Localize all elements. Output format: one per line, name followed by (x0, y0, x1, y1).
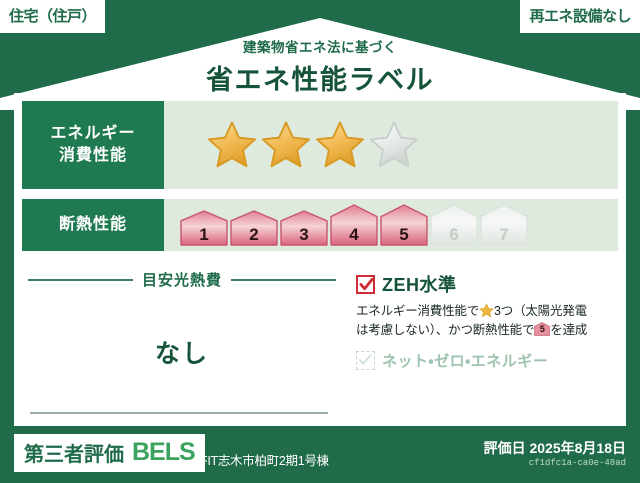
zeh-desc-part3: を達成 (550, 323, 587, 337)
bels-logo-plate: 第三者評価 BELS (14, 434, 205, 472)
zeh-desc-part1: エネルギー消費性能で (356, 304, 479, 318)
label-title-block: 建築物省エネ法に基づく 省エネ性能ラベル (0, 36, 640, 97)
utility-cost-value: なし (22, 334, 342, 370)
zeh-desc-stars: 3つ（太陽光発電 (494, 304, 587, 318)
third-party-eval-text: 第三者評価 (24, 438, 124, 467)
energy-performance-row: エネルギー 消費性能 (22, 101, 618, 189)
label-content-card: エネルギー 消費性能 断熱性能 1234567 目安光熱費 (14, 93, 626, 426)
evaluation-date-value: 2025年8月18日 (529, 440, 626, 456)
insulation-performance-value: 1234567 (164, 199, 618, 251)
insulation-performance-label: 断熱性能 (22, 199, 164, 251)
insulation-level-number: 4 (330, 226, 378, 243)
utility-cost-divider (30, 412, 328, 414)
zeh-desc-part2: は考慮しない）、かつ断熱性能で (356, 323, 534, 337)
insulation-level-number: 2 (230, 226, 278, 243)
building-type-badge: 住宅（住戸） (0, 0, 105, 33)
net-zero-energy-label: ネット・ゼロ・エネルギー (382, 350, 548, 371)
label-footer: 第三者評価 BELS FIT志木市柏町2期1号棟 評価日 2025年8月18日 … (0, 428, 640, 483)
insulation-level-6: 6 (430, 204, 478, 246)
page-title: 省エネ性能ラベル (0, 58, 640, 97)
utility-cost-heading-text: 目安光熱費 (142, 269, 222, 290)
energy-performance-label: 住宅（住戸） 再エネ設備なし 建築物省エネ法に基づく 省エネ性能ラベル エネルギ… (0, 0, 640, 483)
house-rating-scale: 1234567 (180, 204, 528, 246)
heading-rule-right (231, 279, 336, 281)
insulation-level-1: 1 (180, 210, 228, 246)
mini-house-number: 5 (534, 322, 550, 336)
evaluation-date: 評価日 2025年8月18日 (484, 438, 626, 458)
insulation-performance-row: 断熱性能 1234567 (22, 199, 618, 251)
insulation-level-number: 7 (480, 226, 528, 243)
energy-label-line1: エネルギー (50, 123, 135, 145)
evaluation-id: cf1dfc1a-ca0e-48ad (529, 458, 626, 468)
mini-house-badge: 5 (534, 322, 550, 336)
heading-rule-left (28, 279, 133, 281)
zeh-heading-row: ZEH水準 (356, 271, 614, 297)
insulation-level-2: 2 (230, 210, 278, 246)
star-4-empty (368, 119, 420, 171)
zeh-checkbox-checked (356, 275, 375, 294)
zeh-description: エネルギー消費性能で 3つ（太陽光発電 は考慮しない）、かつ断熱性能で 5 を達… (356, 302, 614, 341)
utility-cost-heading: 目安光熱費 (22, 269, 342, 290)
property-name: FIT志木市柏町2期1号棟 (200, 450, 329, 469)
evaluation-date-label: 評価日 (484, 440, 526, 456)
energy-label-line2: 消費性能 (59, 145, 127, 167)
insulation-level-number: 5 (380, 226, 428, 243)
energy-performance-value (164, 101, 618, 189)
star-3-filled (314, 119, 366, 171)
insulation-label-text: 断熱性能 (59, 214, 127, 236)
zeh-title: ZEH水準 (382, 271, 457, 297)
insulation-level-number: 1 (180, 226, 228, 243)
insulation-level-number: 3 (280, 226, 328, 243)
insulation-level-7: 7 (480, 204, 528, 246)
zeh-section: ZEH水準 エネルギー消費性能で 3つ（太陽光発電 は考慮しない）、かつ断熱性能… (342, 265, 618, 440)
renewable-equipment-badge: 再エネ設備なし (520, 0, 640, 33)
insulation-level-number: 6 (430, 226, 478, 243)
energy-performance-label: エネルギー 消費性能 (22, 101, 164, 189)
star-rating (206, 119, 420, 171)
star-2-filled (260, 119, 312, 171)
star-1-filled (206, 119, 258, 171)
title-subtitle: 建築物省エネ法に基づく (0, 36, 640, 56)
net-zero-checkbox-unchecked (356, 351, 375, 370)
utility-cost-section: 目安光熱費 なし (22, 265, 342, 440)
bels-logo-text: BELS (132, 438, 195, 467)
insulation-level-3: 3 (280, 210, 328, 246)
lower-section: 目安光熱費 なし ZEH水準 エネルギー消費性能で (22, 265, 618, 440)
insulation-level-4: 4 (330, 204, 378, 246)
net-zero-energy-row: ネット・ゼロ・エネルギー (356, 350, 614, 371)
mini-star-icon (479, 303, 494, 318)
insulation-level-5: 5 (380, 204, 428, 246)
